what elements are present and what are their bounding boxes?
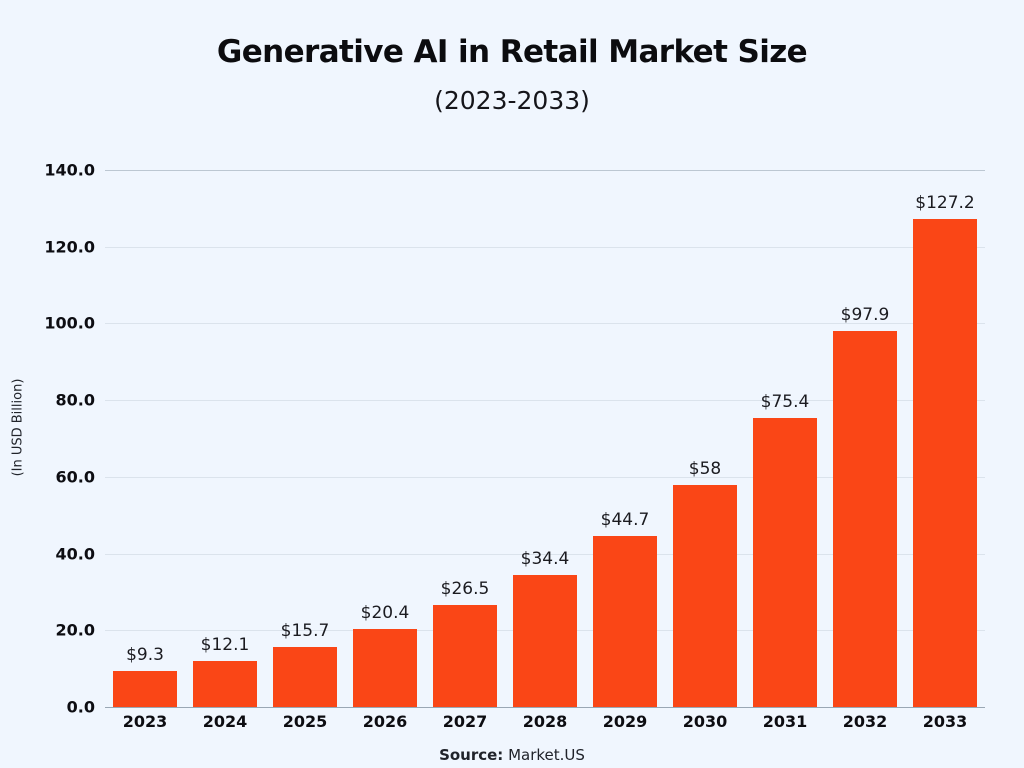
bar-value-label: $9.3 xyxy=(105,645,185,665)
bar-group: $127.2 xyxy=(905,170,985,707)
bar-2026[interactable] xyxy=(353,629,417,707)
bar-group: $44.7 xyxy=(585,170,665,707)
x-axis-baseline xyxy=(105,707,985,708)
plot-area: $9.3$12.1$15.7$20.4$26.5$34.4$44.7$58$75… xyxy=(105,170,985,707)
bar-2033[interactable] xyxy=(913,219,977,707)
bar-group: $12.1 xyxy=(185,170,265,707)
x-tick-label-2028: 2028 xyxy=(505,712,585,731)
bar-2029[interactable] xyxy=(593,536,657,707)
y-tick-label: 100.0 xyxy=(9,314,95,333)
x-tick-label-2024: 2024 xyxy=(185,712,265,731)
bar-value-label: $20.4 xyxy=(345,603,425,623)
bar-group: $75.4 xyxy=(745,170,825,707)
bar-value-label: $127.2 xyxy=(905,193,985,213)
y-tick-label: 120.0 xyxy=(9,237,95,256)
chart-title: Generative AI in Retail Market Size xyxy=(0,34,1024,70)
x-tick-label-2030: 2030 xyxy=(665,712,745,731)
y-tick-label: 0.0 xyxy=(9,698,95,717)
x-tick-label-2029: 2029 xyxy=(585,712,665,731)
bar-group: $15.7 xyxy=(265,170,345,707)
x-tick-label-2033: 2033 xyxy=(905,712,985,731)
bar-value-label: $26.5 xyxy=(425,579,505,599)
y-tick-label: 40.0 xyxy=(9,544,95,563)
x-tick-label-2031: 2031 xyxy=(745,712,825,731)
source-note: Source: Market.US xyxy=(0,746,1024,764)
bar-group: $34.4 xyxy=(505,170,585,707)
bar-group: $97.9 xyxy=(825,170,905,707)
bar-2027[interactable] xyxy=(433,605,497,707)
bar-group: $26.5 xyxy=(425,170,505,707)
bar-value-label: $15.7 xyxy=(265,621,345,641)
y-tick-label: 20.0 xyxy=(9,621,95,640)
bar-group: $58 xyxy=(665,170,745,707)
bar-value-label: $34.4 xyxy=(505,549,585,569)
source-label: Source: xyxy=(439,746,503,764)
x-tick-label-2023: 2023 xyxy=(105,712,185,731)
bar-group: $9.3 xyxy=(105,170,185,707)
bar-value-label: $75.4 xyxy=(745,392,825,412)
bar-2024[interactable] xyxy=(193,661,257,707)
y-axis-title: (In USD Billion) xyxy=(11,348,26,508)
bar-2025[interactable] xyxy=(273,647,337,707)
bar-2023[interactable] xyxy=(113,671,177,707)
x-tick-label-2032: 2032 xyxy=(825,712,905,731)
bar-value-label: $58 xyxy=(665,459,745,479)
chart-subtitle: (2023-2033) xyxy=(0,86,1024,115)
bar-value-label: $12.1 xyxy=(185,635,265,655)
y-tick-label: 140.0 xyxy=(9,161,95,180)
source-value: Market.US xyxy=(508,746,585,764)
bar-value-label: $44.7 xyxy=(585,510,665,530)
x-tick-label-2026: 2026 xyxy=(345,712,425,731)
bar-2030[interactable] xyxy=(673,485,737,707)
bar-2028[interactable] xyxy=(513,575,577,707)
bar-2032[interactable] xyxy=(833,331,897,707)
x-tick-label-2027: 2027 xyxy=(425,712,505,731)
bar-group: $20.4 xyxy=(345,170,425,707)
x-tick-label-2025: 2025 xyxy=(265,712,345,731)
bar-2031[interactable] xyxy=(753,418,817,707)
bar-value-label: $97.9 xyxy=(825,305,905,325)
